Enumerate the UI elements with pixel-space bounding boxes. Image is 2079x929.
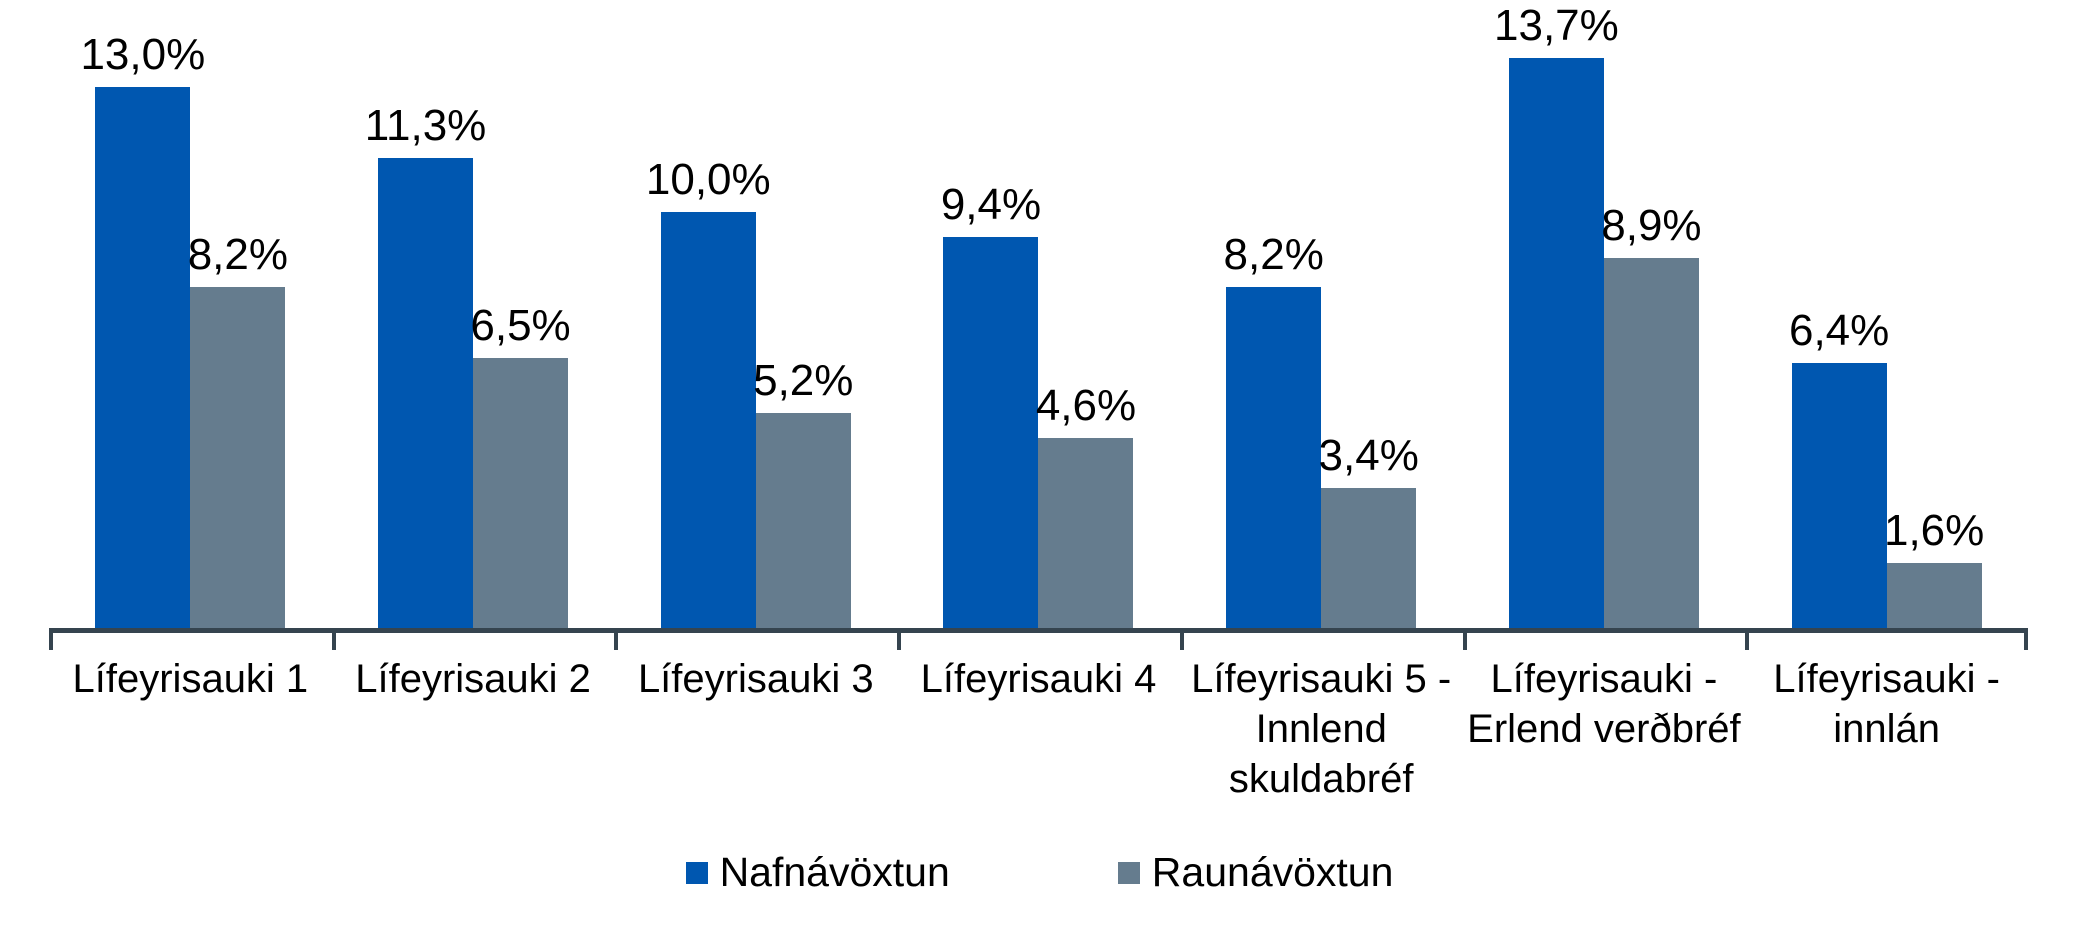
category-label-line: Innlend bbox=[1180, 704, 1463, 754]
bar-value-label-nominal: 9,4% bbox=[903, 183, 1078, 227]
bar-value-label-nominal: 8,2% bbox=[1186, 233, 1361, 277]
bar-group: 13,0%8,2% bbox=[49, 20, 332, 630]
bar-nominal[interactable] bbox=[1792, 363, 1887, 630]
bar-value-label-real: 3,4% bbox=[1281, 434, 1456, 478]
legend-swatch-icon bbox=[686, 862, 708, 884]
x-axis-tick bbox=[1180, 628, 1184, 650]
bar-value-label-nominal: 13,7% bbox=[1469, 4, 1644, 48]
bar-value-label-nominal: 10,0% bbox=[621, 158, 796, 202]
legend-item-label: Raunávöxtun bbox=[1152, 852, 1394, 893]
legend-item-nominal[interactable]: Nafnávöxtun bbox=[686, 852, 950, 893]
bar-nominal[interactable] bbox=[943, 237, 1038, 630]
bar-real[interactable] bbox=[1887, 563, 1982, 630]
bar-group: 11,3%6,5% bbox=[332, 20, 615, 630]
category-label-line: Lífeyrisauki 5 - bbox=[1180, 654, 1463, 704]
bar-value-label-nominal: 13,0% bbox=[55, 33, 230, 77]
chart-legend: NafnávöxtunRaunávöxtun bbox=[0, 852, 2079, 893]
x-axis-tick bbox=[2024, 628, 2028, 650]
x-axis-tick bbox=[49, 628, 53, 650]
x-axis-category-label: Lífeyrisauki 3 bbox=[614, 654, 897, 704]
legend-item-real[interactable]: Raunávöxtun bbox=[1118, 852, 1394, 893]
bar-group: 13,7%8,9% bbox=[1463, 20, 1746, 630]
x-axis-tick bbox=[614, 628, 618, 650]
category-label-line: Lífeyrisauki 2 bbox=[332, 654, 615, 704]
category-label-line: Lífeyrisauki 3 bbox=[614, 654, 897, 704]
category-label-line: Lífeyrisauki - bbox=[1745, 654, 2028, 704]
category-label-line: Lífeyrisauki - bbox=[1463, 654, 1746, 704]
bar-value-label-nominal: 6,4% bbox=[1752, 309, 1927, 353]
bar-nominal[interactable] bbox=[661, 212, 756, 630]
category-label-line: Lífeyrisauki 4 bbox=[897, 654, 1180, 704]
bar-real[interactable] bbox=[473, 358, 568, 630]
bar-real[interactable] bbox=[756, 413, 851, 630]
bar-value-label-real: 4,6% bbox=[998, 384, 1173, 428]
category-label-line: Erlend verðbréf bbox=[1463, 704, 1746, 754]
bar-value-label-nominal: 11,3% bbox=[338, 104, 513, 148]
x-axis-line bbox=[49, 628, 2028, 633]
legend-swatch-icon bbox=[1118, 862, 1140, 884]
bar-value-label-real: 8,2% bbox=[150, 233, 325, 277]
bar-nominal[interactable] bbox=[95, 87, 190, 630]
x-axis-tick bbox=[332, 628, 336, 650]
bar-group: 6,4%1,6% bbox=[1745, 20, 2028, 630]
x-axis-tick bbox=[1463, 628, 1467, 650]
x-axis-category-label: Lífeyrisauki -innlán bbox=[1745, 654, 2028, 754]
category-label-line: Lífeyrisauki 1 bbox=[49, 654, 332, 704]
bar-real[interactable] bbox=[190, 287, 285, 630]
bar-chart: 13,0%8,2%11,3%6,5%10,0%5,2%9,4%4,6%8,2%3… bbox=[0, 0, 2079, 929]
x-axis-category-label: Lífeyrisauki 4 bbox=[897, 654, 1180, 704]
bar-group: 9,4%4,6% bbox=[897, 20, 1180, 630]
plot-area: 13,0%8,2%11,3%6,5%10,0%5,2%9,4%4,6%8,2%3… bbox=[49, 20, 2028, 630]
bar-real[interactable] bbox=[1038, 438, 1133, 630]
bar-value-label-real: 1,6% bbox=[1847, 509, 2022, 553]
legend-item-label: Nafnávöxtun bbox=[720, 852, 950, 893]
bar-real[interactable] bbox=[1321, 488, 1416, 630]
category-label-line: innlán bbox=[1745, 704, 2028, 754]
x-axis-category-label: Lífeyrisauki 5 -Innlendskuldabréf bbox=[1180, 654, 1463, 804]
x-axis-tick bbox=[897, 628, 901, 650]
x-axis-category-label: Lífeyrisauki 1 bbox=[49, 654, 332, 704]
bar-real[interactable] bbox=[1604, 258, 1699, 630]
bar-group: 10,0%5,2% bbox=[614, 20, 897, 630]
bar-nominal[interactable] bbox=[1509, 58, 1604, 630]
x-axis-category-label: Lífeyrisauki -Erlend verðbréf bbox=[1463, 654, 1746, 754]
bar-value-label-real: 8,9% bbox=[1564, 204, 1739, 248]
x-axis-category-label: Lífeyrisauki 2 bbox=[332, 654, 615, 704]
x-axis-category-labels: Lífeyrisauki 1Lífeyrisauki 2Lífeyrisauki… bbox=[49, 654, 2028, 804]
bar-value-label-real: 5,2% bbox=[716, 359, 891, 403]
x-axis-tick bbox=[1745, 628, 1749, 650]
bar-value-label-real: 6,5% bbox=[433, 304, 608, 348]
bar-group: 8,2%3,4% bbox=[1180, 20, 1463, 630]
category-label-line: skuldabréf bbox=[1180, 754, 1463, 804]
bar-nominal[interactable] bbox=[378, 158, 473, 630]
